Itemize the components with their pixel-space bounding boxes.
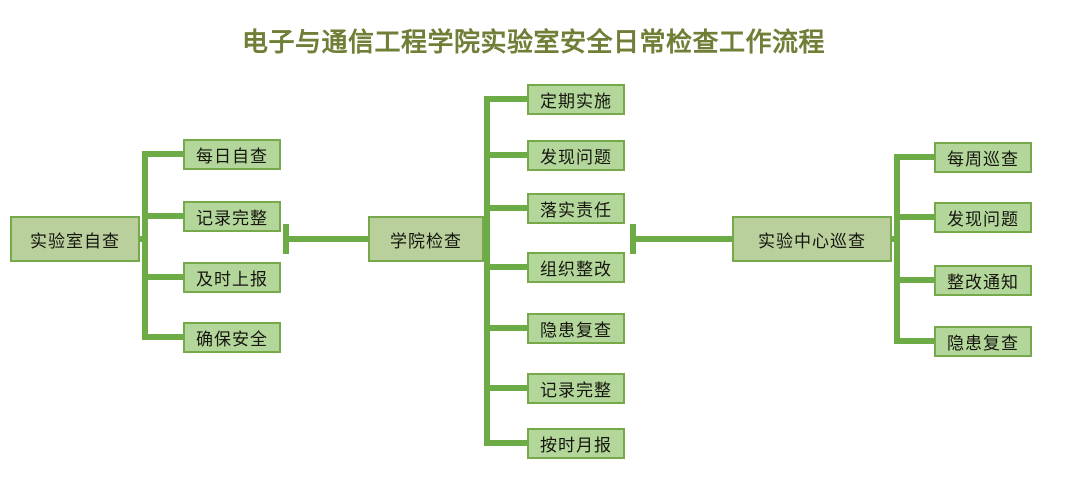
connector-group2-branch-6: [484, 385, 529, 391]
node-leaf-find-problems-1[interactable]: 发现问题: [527, 140, 625, 171]
node-leaf-rectification-notice[interactable]: 整改通知: [934, 265, 1032, 296]
connector-group2-branch-7: [484, 440, 529, 446]
node-leaf-monthly-report[interactable]: 按时月报: [527, 428, 625, 459]
node-leaf-weekly-patrol[interactable]: 每周巡查: [934, 142, 1032, 173]
node-leaf-ensure-safety[interactable]: 确保安全: [183, 322, 281, 353]
flowchart-canvas: 电子与通信工程学院实验室安全日常检查工作流程 实验室自查 学院检查 实验中心巡查…: [0, 0, 1067, 479]
connector-group3-branch-1: [894, 154, 936, 160]
node-leaf-implement-responsibility[interactable]: 落实责任: [527, 193, 625, 224]
node-trunk-lab-selfcheck[interactable]: 实验室自查: [10, 216, 140, 262]
connector-group3-branch-2: [894, 214, 936, 220]
connector-trunk3-left-bar: [630, 224, 636, 254]
connector-group2-branch-4: [484, 264, 529, 270]
connector-group2-branch-5: [484, 325, 529, 331]
connector-group1-branch-1: [142, 151, 184, 157]
node-leaf-hazard-recheck-2[interactable]: 隐患复查: [934, 326, 1032, 357]
connector-group2-branch-1: [484, 96, 529, 102]
node-leaf-periodic-execution[interactable]: 定期实施: [527, 84, 625, 115]
page-title: 电子与通信工程学院实验室安全日常检查工作流程: [0, 22, 1067, 59]
node-trunk-college-inspection[interactable]: 学院检查: [368, 216, 484, 262]
node-leaf-find-problems-2[interactable]: 发现问题: [934, 202, 1032, 233]
connector-group1-branch-3: [142, 274, 184, 280]
connector-trunk1-to-trunk2: [288, 236, 378, 242]
connector-group1-spine: [142, 154, 148, 337]
node-leaf-hazard-recheck-1[interactable]: 隐患复查: [527, 313, 625, 344]
connector-group2-spine: [484, 96, 490, 446]
connector-group2-branch-2: [484, 152, 529, 158]
node-leaf-daily-selfcheck[interactable]: 每日自查: [183, 139, 281, 170]
connector-group2-branch-3: [484, 205, 529, 211]
connector-group1-branch-4: [142, 334, 184, 340]
connector-trunk2-to-trunk3: [634, 236, 738, 242]
connector-trunk2-left-bar: [283, 224, 289, 254]
connector-group3-spine: [894, 157, 900, 344]
node-leaf-organize-rectification[interactable]: 组织整改: [527, 252, 625, 283]
node-leaf-records-complete-2[interactable]: 记录完整: [527, 373, 625, 404]
connector-group3-branch-3: [894, 277, 936, 283]
connector-group1-branch-2: [142, 213, 184, 219]
node-trunk-center-patrol[interactable]: 实验中心巡查: [732, 216, 892, 262]
node-leaf-timely-report[interactable]: 及时上报: [183, 262, 281, 293]
connector-group3-branch-4: [894, 338, 936, 344]
node-leaf-records-complete-1[interactable]: 记录完整: [183, 201, 281, 232]
